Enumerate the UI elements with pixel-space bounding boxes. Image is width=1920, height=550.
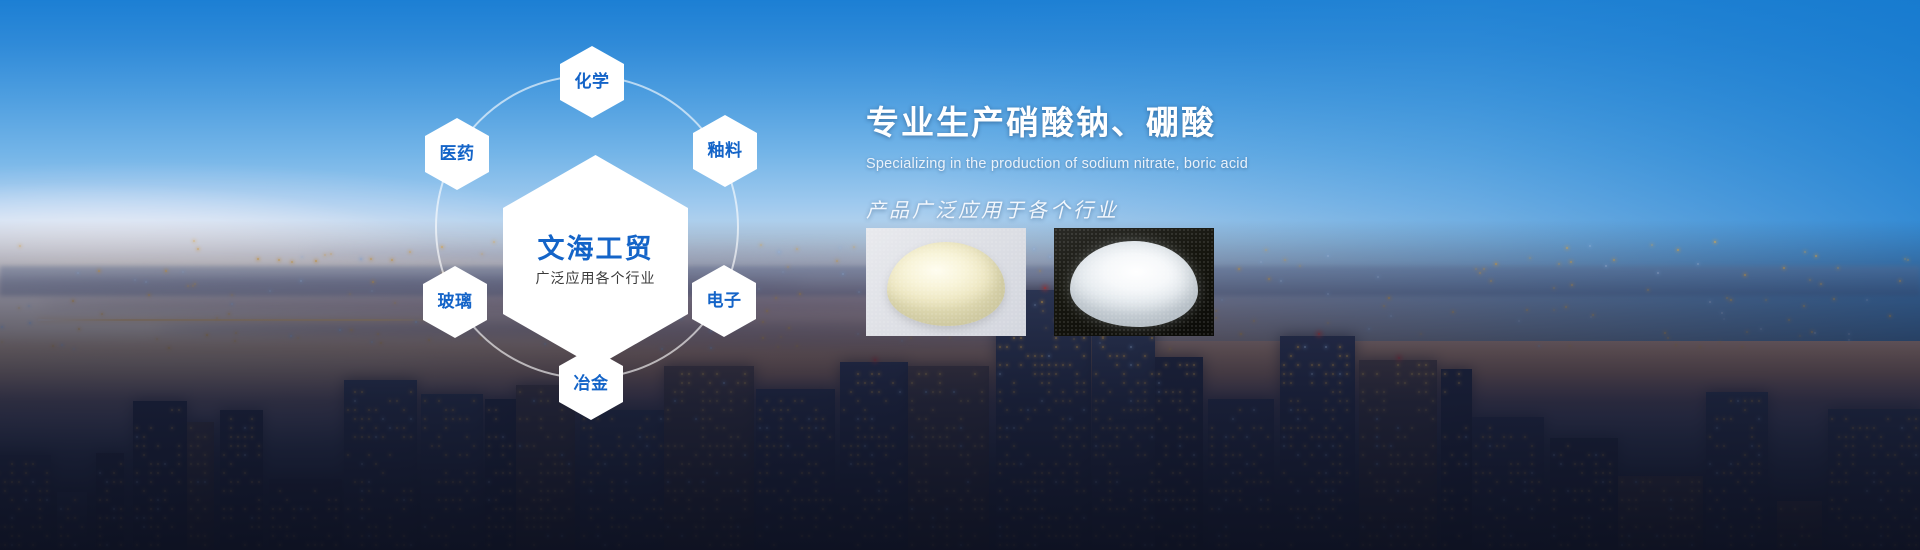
product-photo-group: [866, 228, 1214, 336]
hexagon-label: 玻璃: [438, 293, 473, 312]
headline-english: Specializing in the production of sodium…: [866, 156, 1426, 172]
hexagon-label: 化学: [575, 73, 610, 92]
product-photo-sodium-nitrate[interactable]: [866, 228, 1026, 336]
hexagon-label: 电子: [707, 292, 742, 311]
powder-grain-texture: [1054, 228, 1214, 336]
product-photo-boric-acid[interactable]: [1054, 228, 1214, 336]
hexagon-label: 釉料: [708, 142, 743, 161]
hexagon-label: 医药: [440, 145, 475, 164]
industry-hexagon-graphic: 化学 釉料 电子 冶金 玻璃 医药 文海工贸 广泛应用各个行业: [0, 0, 860, 550]
powder-grain-texture: [866, 228, 1026, 336]
company-name: 文海工贸: [538, 235, 654, 265]
hexagon-label: 冶金: [574, 375, 609, 394]
company-tagline: 广泛应用各个行业: [536, 271, 656, 286]
headline-block: 专业生产硝酸钠、硼酸 Specializing in the productio…: [866, 96, 1426, 223]
tagline: 产品广泛应用于各个行业: [866, 194, 1426, 223]
headline: 专业生产硝酸钠、硼酸: [866, 96, 1426, 144]
promo-banner: 化学 釉料 电子 冶金 玻璃 医药 文海工贸 广泛应用各个行业 专业生产硝酸钠、…: [0, 0, 1920, 550]
